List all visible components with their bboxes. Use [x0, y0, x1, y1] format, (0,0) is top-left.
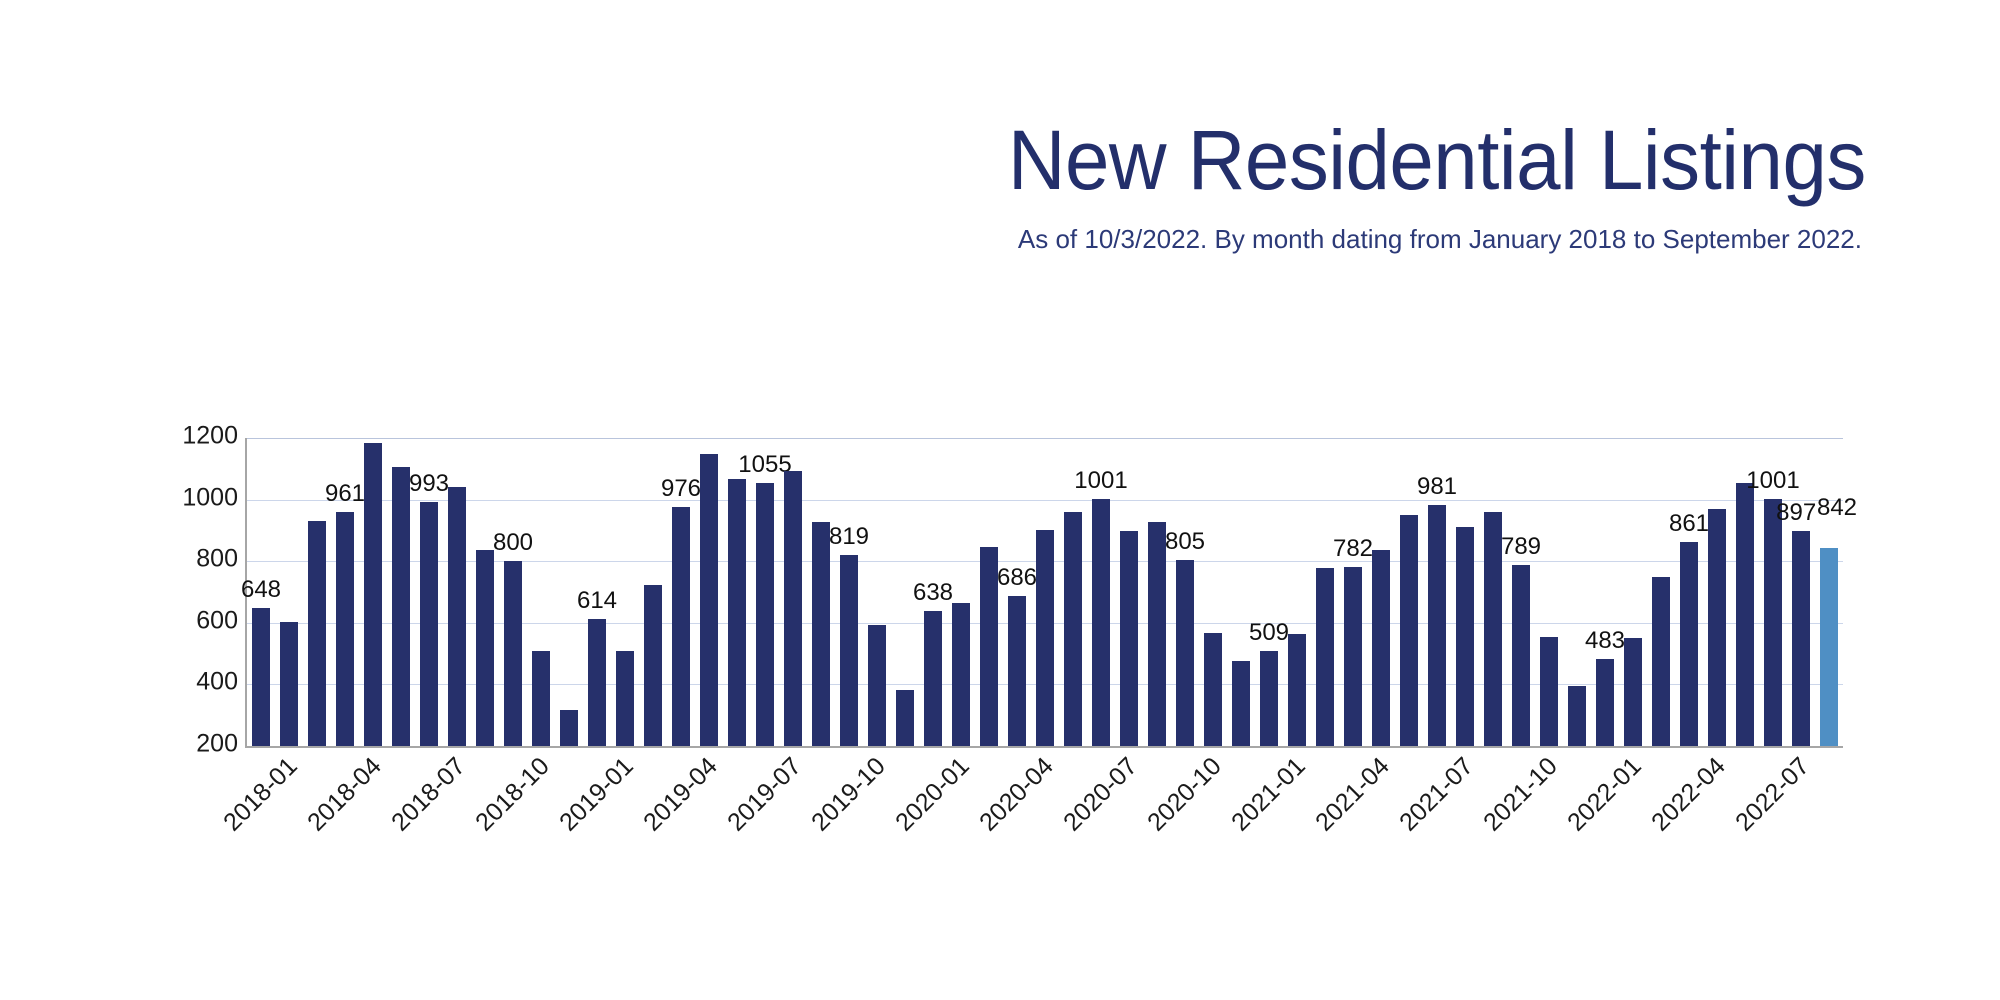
bar[interactable] [952, 603, 969, 746]
chart-container: 20040060080010001200 6489619938006149761… [0, 0, 2000, 1000]
bar-slot [952, 438, 969, 746]
bar[interactable] [1008, 596, 1025, 746]
bar-value-label: 648 [241, 576, 281, 604]
bar[interactable] [644, 585, 661, 746]
bar[interactable] [1708, 509, 1725, 746]
bar[interactable] [896, 690, 913, 746]
bar[interactable] [728, 479, 745, 746]
bar-value-label: 961 [325, 480, 365, 508]
bar[interactable] [616, 651, 633, 746]
bar[interactable] [1512, 565, 1529, 746]
x-axis-tick-label: 2022-01 [1562, 752, 1647, 837]
y-axis-tick-label: 1000 [160, 483, 238, 512]
bar[interactable] [1400, 515, 1417, 746]
bar[interactable] [812, 522, 829, 746]
bar-value-label: 638 [913, 579, 953, 607]
bar-slot [308, 438, 325, 746]
bar[interactable] [1316, 568, 1333, 746]
bar-slot [868, 438, 885, 746]
bar[interactable] [784, 471, 801, 746]
bar-slot [280, 438, 297, 746]
x-axis-tick-label: 2020-04 [974, 752, 1059, 837]
bar-value-label: 993 [409, 470, 449, 498]
bar-slot [700, 438, 717, 746]
x-axis-tick-label: 2019-07 [722, 752, 807, 837]
bar-slot [1652, 438, 1669, 746]
bar[interactable] [1232, 661, 1249, 746]
x-axis-tick-label: 2018-07 [386, 752, 471, 837]
bar-slot [644, 438, 661, 746]
bar[interactable] [980, 547, 997, 746]
bar[interactable] [1456, 527, 1473, 746]
bar[interactable] [560, 710, 577, 746]
x-axis-tick-label: 2021-01 [1226, 752, 1311, 837]
bar[interactable] [420, 502, 437, 746]
bar-value-label: 981 [1417, 473, 1457, 501]
bar[interactable] [1260, 651, 1277, 746]
bar[interactable] [868, 625, 885, 746]
bar-slot [1288, 438, 1305, 746]
bar[interactable] [840, 555, 857, 746]
bar[interactable] [1120, 531, 1137, 746]
bar-value-label: 897 [1776, 499, 1816, 527]
bar-slot [784, 438, 801, 746]
bar[interactable] [1652, 577, 1669, 746]
y-axis-tick-label: 1200 [160, 422, 238, 451]
bar[interactable] [1148, 522, 1165, 746]
bar-slot [1260, 438, 1277, 746]
bars-layer: 6489619938006149761055819638686100180550… [247, 438, 1843, 746]
bar[interactable] [252, 608, 269, 746]
bar-slot [448, 438, 465, 746]
y-axis: 20040060080010001200 [160, 436, 238, 746]
bar-slot [1512, 438, 1529, 746]
y-axis-tick-label: 600 [160, 606, 238, 635]
bar[interactable] [336, 512, 353, 746]
plot-area: 6489619938006149761055819638686100180550… [245, 438, 1843, 748]
x-axis-tick-label: 2020-01 [890, 752, 975, 837]
bar-slot [1344, 438, 1361, 746]
bar-slot [392, 438, 409, 746]
bar-slot [728, 438, 745, 746]
bar[interactable] [1624, 638, 1641, 746]
x-axis-tick-label: 2021-10 [1478, 752, 1563, 837]
bar-slot [1204, 438, 1221, 746]
bar-slot [1036, 438, 1053, 746]
x-axis-tick-label: 2021-07 [1394, 752, 1479, 837]
bar-value-label: 782 [1333, 535, 1373, 563]
bar-slot [1316, 438, 1333, 746]
y-axis-tick-label: 200 [160, 730, 238, 759]
bar[interactable] [1568, 686, 1585, 746]
x-axis-tick-label: 2022-07 [1730, 752, 1815, 837]
bar[interactable] [504, 561, 521, 746]
bar-slot [504, 438, 521, 746]
x-axis-tick-label: 2019-04 [638, 752, 723, 837]
y-axis-tick-label: 800 [160, 545, 238, 574]
bar[interactable] [1036, 530, 1053, 746]
bar[interactable] [756, 483, 773, 746]
bar-slot [980, 438, 997, 746]
x-axis-tick-label: 2020-10 [1142, 752, 1227, 837]
x-axis-tick-label: 2018-10 [470, 752, 555, 837]
bar-value-label: 861 [1669, 510, 1709, 538]
bar-value-label: 805 [1165, 528, 1205, 556]
bar-value-label: 509 [1249, 619, 1289, 647]
bar[interactable] [1428, 505, 1445, 746]
x-axis: 2018-012018-042018-072018-102019-012019-… [245, 752, 1841, 892]
x-axis-tick-label: 2019-01 [554, 752, 639, 837]
bar[interactable] [1736, 483, 1753, 746]
bar[interactable] [700, 454, 717, 746]
x-axis-tick-label: 2021-04 [1310, 752, 1395, 837]
bar-slot [1400, 438, 1417, 746]
bar-slot [1176, 438, 1193, 746]
bar[interactable] [308, 521, 325, 746]
bar[interactable] [476, 550, 493, 746]
bar-value-label: 800 [493, 529, 533, 557]
bar[interactable] [364, 443, 381, 746]
bar[interactable] [672, 507, 689, 746]
bar-value-label: 789 [1501, 533, 1541, 561]
bar-slot [1792, 438, 1809, 746]
bar[interactable] [1288, 634, 1305, 746]
x-axis-tick-label: 2022-04 [1646, 752, 1731, 837]
bar-value-label: 614 [577, 587, 617, 615]
bar[interactable] [392, 467, 409, 746]
bar-slot [1680, 438, 1697, 746]
bar-slot [364, 438, 381, 746]
bar-slot [1568, 438, 1585, 746]
bar-slot [1484, 438, 1501, 746]
bar-value-label: 842 [1817, 494, 1857, 522]
bar-slot [840, 438, 857, 746]
bar-slot [1372, 438, 1389, 746]
bar[interactable] [280, 622, 297, 746]
bar[interactable] [1176, 560, 1193, 746]
bar[interactable] [924, 611, 941, 746]
bar-value-label: 483 [1585, 627, 1625, 655]
bar-slot [560, 438, 577, 746]
bar-slot [1624, 438, 1641, 746]
x-axis-tick-label: 2018-01 [218, 752, 303, 837]
bar-slot [1456, 438, 1473, 746]
y-axis-tick-label: 400 [160, 668, 238, 697]
bar-slot [532, 438, 549, 746]
bar[interactable] [1792, 531, 1809, 746]
bar-slot [1120, 438, 1137, 746]
bar-slot [1148, 438, 1165, 746]
bar-slot [756, 438, 773, 746]
bar[interactable] [1820, 548, 1837, 746]
bar[interactable] [1540, 637, 1557, 746]
bar-slot [1232, 438, 1249, 746]
x-axis-tick-label: 2018-04 [302, 752, 387, 837]
bar[interactable] [588, 619, 605, 747]
bar[interactable] [1372, 550, 1389, 746]
bar-slot [1708, 438, 1725, 746]
bar[interactable] [1344, 567, 1361, 746]
bar[interactable] [448, 487, 465, 746]
bar[interactable] [1764, 499, 1781, 746]
x-axis-tick-label: 2019-10 [806, 752, 891, 837]
bar-value-label: 686 [997, 564, 1037, 592]
bar-slot [476, 438, 493, 746]
x-axis-tick-label: 2020-07 [1058, 752, 1143, 837]
bar-slot [896, 438, 913, 746]
bar[interactable] [1680, 542, 1697, 746]
bar[interactable] [1064, 512, 1081, 746]
bar-slot [1820, 438, 1837, 746]
bar-slot [616, 438, 633, 746]
bar[interactable] [1092, 499, 1109, 746]
bar[interactable] [1204, 633, 1221, 746]
bar[interactable] [532, 651, 549, 746]
bar-slot [1540, 438, 1557, 746]
bar-slot [812, 438, 829, 746]
bar-value-label: 819 [829, 523, 869, 551]
bar[interactable] [1484, 512, 1501, 746]
bar-slot [1596, 438, 1613, 746]
bar[interactable] [1596, 659, 1613, 746]
bar-value-label: 976 [661, 475, 701, 503]
